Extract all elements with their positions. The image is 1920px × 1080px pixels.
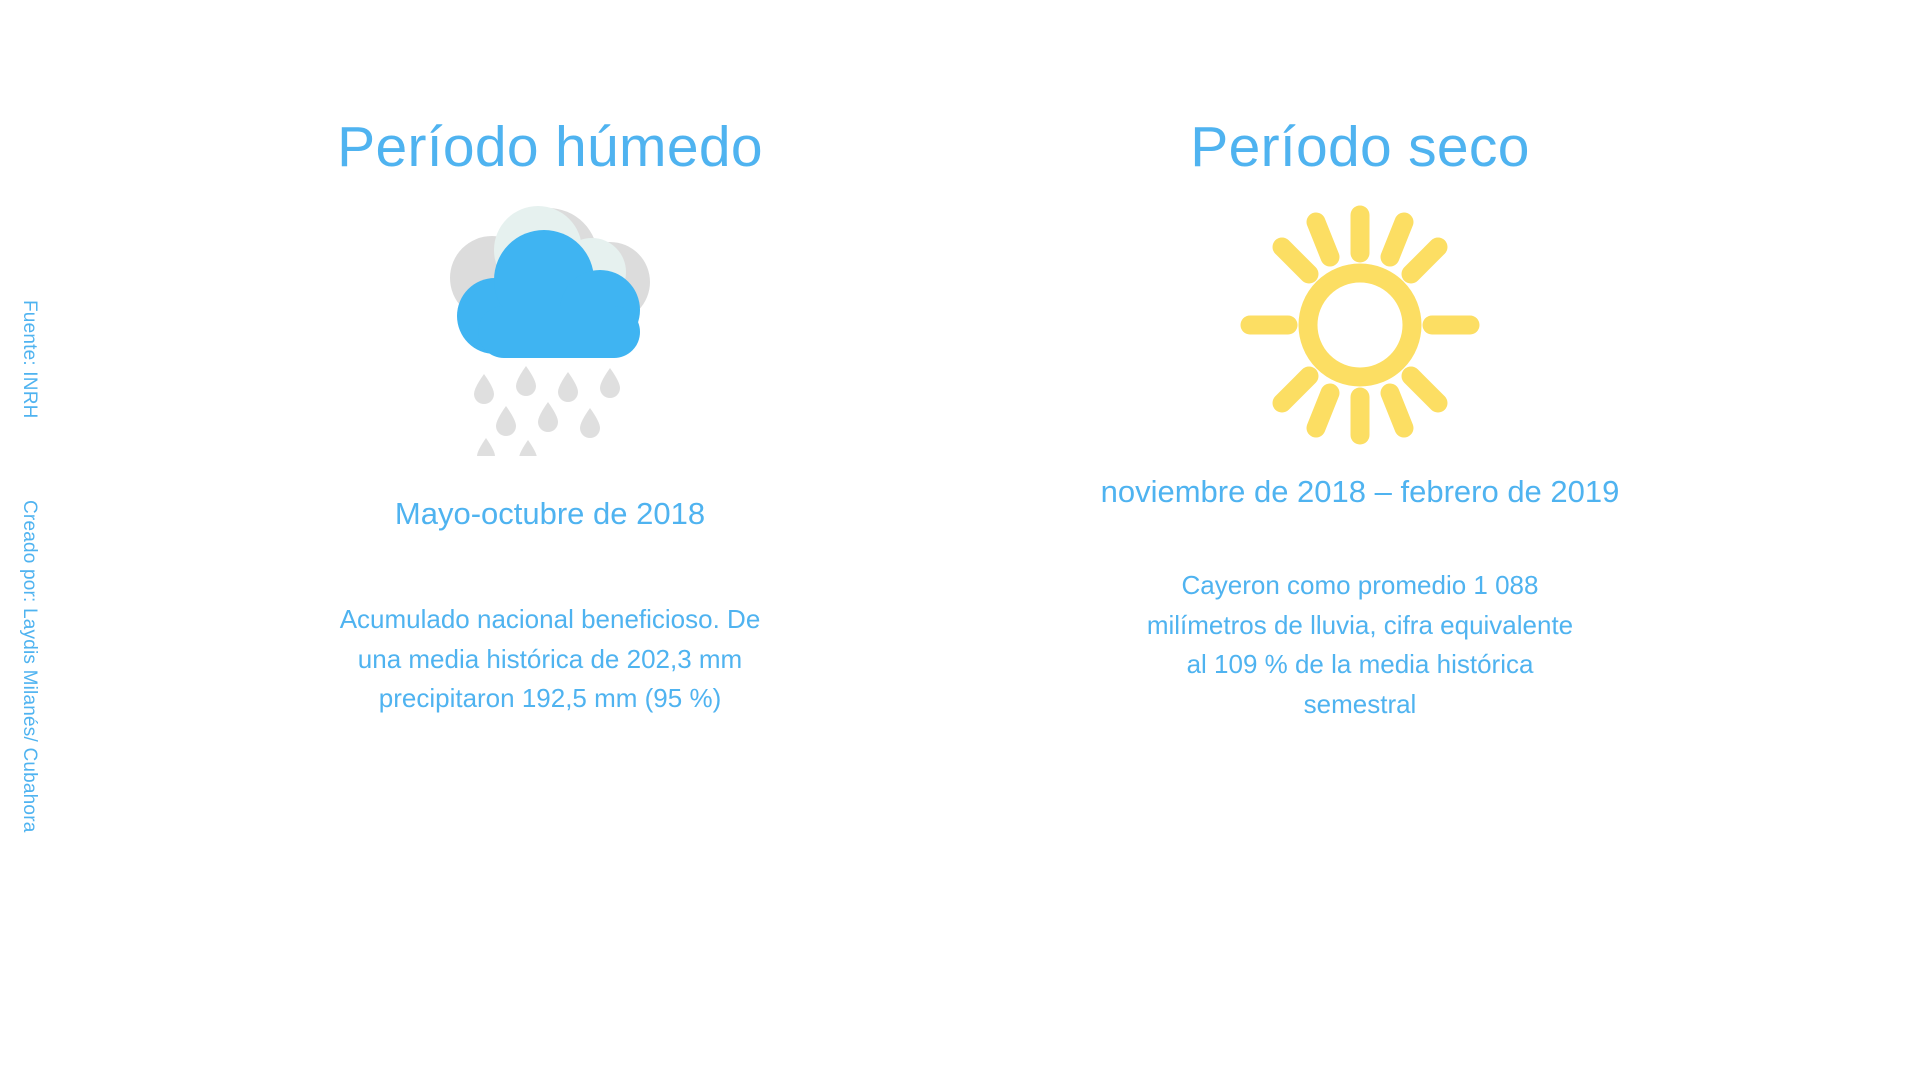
panel-date-wet: Mayo-octubre de 2018 [395, 490, 705, 538]
source-credit: Fuente: INRH [18, 300, 40, 419]
panel-columns: Período húmedo [70, 0, 1920, 1080]
panel-title-dry: Período seco [1190, 118, 1529, 178]
panel-date-dry: noviembre de 2018 – febrero de 2019 [1101, 468, 1620, 516]
side-credits: Fuente: INRH Creado por: Laydis Milanés/… [0, 0, 70, 1080]
panel-wet-period: Período húmedo [165, 0, 935, 719]
panel-body-wet: Acumulado nacional beneficioso. De una m… [330, 600, 770, 719]
rain-cloud-icon-wrapper [420, 206, 680, 456]
sun-icon [1240, 205, 1480, 445]
rain-cloud-icon [420, 206, 680, 456]
author-credit: Creado por: Laydis Milanés/ Cubahora [18, 500, 40, 833]
panel-dry-period: Período seco [1040, 0, 1680, 725]
panel-body-dry: Cayeron como promedio 1 088 milímetros d… [1140, 566, 1580, 725]
infographic-canvas: Fuente: INRH Creado por: Laydis Milanés/… [0, 0, 1920, 1080]
sun-icon-wrapper [1240, 200, 1480, 450]
panel-title-wet: Período húmedo [337, 118, 763, 178]
